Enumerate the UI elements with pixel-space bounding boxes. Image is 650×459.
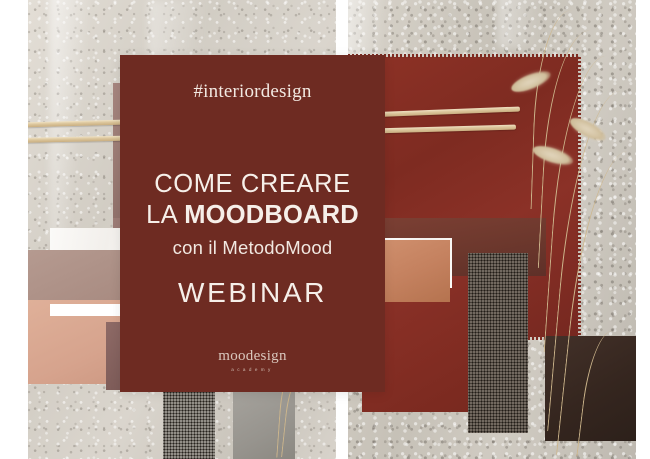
event-type-label: WEBINAR <box>120 277 385 309</box>
moodboard-webinar-poster: #interiordesign COME CREARE LA MOODBOARD… <box>0 0 650 459</box>
headline-line-2-bold: MOODBOARD <box>184 201 359 229</box>
swatch-dark-mesh-tile <box>163 388 215 459</box>
title-card: #interiordesign COME CREARE LA MOODBOARD… <box>120 55 385 392</box>
moodboard-photo-right <box>348 0 636 459</box>
headline-line-1: COME CREARE <box>120 169 385 199</box>
hashtag-text: #interiordesign <box>120 81 385 103</box>
headline-subhead: con il MetodoMood <box>120 237 385 259</box>
headline-block: COME CREARE LA MOODBOARD con il MetodoMo… <box>120 169 385 259</box>
swatch-copper-textured-leather <box>384 240 450 302</box>
swatch-dark-mesh-strip <box>468 253 528 433</box>
brand-logo-tagline: academy <box>120 367 385 372</box>
headline-line-2-lead: LA <box>146 201 184 229</box>
headline-line-2: LA MOODBOARD <box>120 200 385 231</box>
brand-logo-wordmark: moodesign <box>120 349 385 364</box>
brand-logo: moodesign academy <box>120 349 385 372</box>
